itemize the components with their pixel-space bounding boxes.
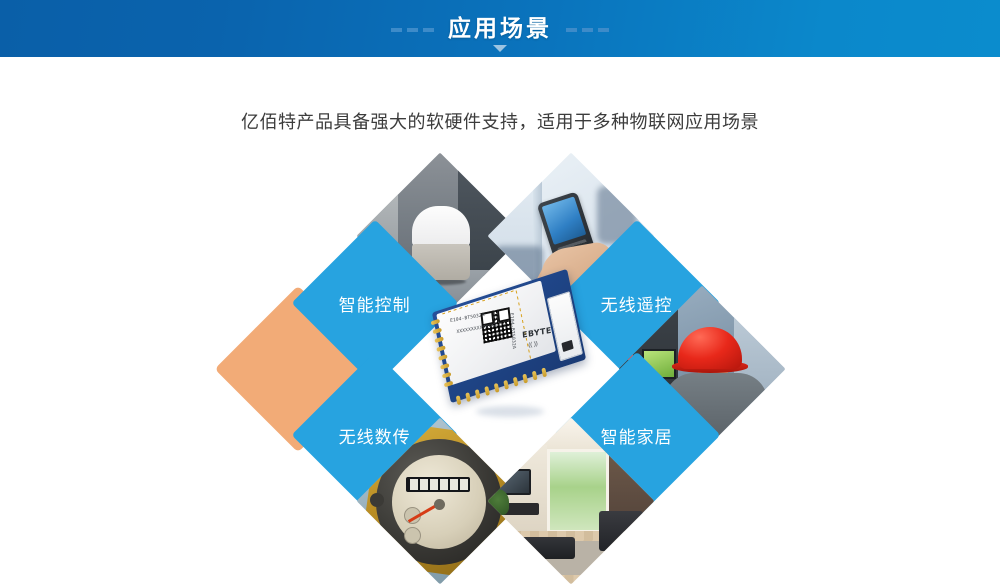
application-scenario-diagram: 智能控制 无线遥控 无线数传 智能家居 xyxy=(0,150,1000,550)
triangle-down-icon xyxy=(493,45,507,52)
page-title: 应用场景 xyxy=(448,17,552,40)
page-header-banner: 应用场景 xyxy=(0,0,1000,57)
dash-decoration-left-icon xyxy=(391,28,434,32)
module-drop-shadow xyxy=(476,406,544,417)
module-code: E104-BT5032A xyxy=(508,313,516,350)
scenario-label-text: 无线数传 xyxy=(339,423,411,448)
scenario-label-text: 智能家居 xyxy=(601,423,673,448)
wireless-module-photo: XXXXXXXXXXXXXX E104-BT5032A E104-BT5032A… xyxy=(430,268,590,428)
page-subtitle: 亿佰特产品具备强大的软硬件支持，适用于多种物联网应用场景 xyxy=(0,108,1000,134)
wireless-mark-icon: (( )) xyxy=(528,341,538,349)
module-brand: EBYTE xyxy=(522,326,552,340)
module-model: E104-BT5032A xyxy=(450,313,485,324)
scenario-label-text: 智能控制 xyxy=(339,291,411,316)
scenario-label-text: 无线遥控 xyxy=(601,291,673,316)
dash-decoration-right-icon xyxy=(566,28,609,32)
